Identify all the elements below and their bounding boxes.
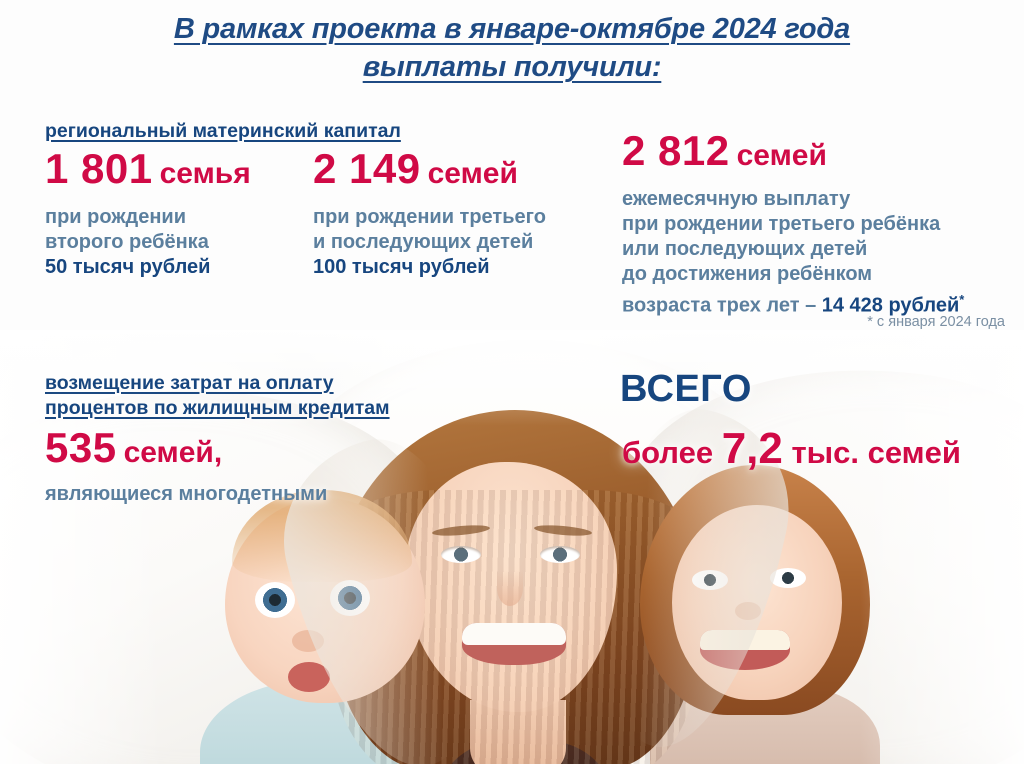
maternity-capital-item-2: 2 149семей при рождении третьего и после… xyxy=(313,146,546,280)
maternity-item-2-amount: 100 тысяч рублей xyxy=(313,255,546,280)
monthly-payment-asterisk: * xyxy=(959,292,964,307)
page-title-line-2: выплаты получили: xyxy=(363,48,662,86)
monthly-payment-number: 2 812 xyxy=(622,127,730,174)
monthly-payment-line-4: до достижения ребёнком xyxy=(622,262,964,287)
housing-credit-block: 535семей, являющиеся многодетными xyxy=(45,425,327,507)
maternity-item-1-figure: 1 801семья xyxy=(45,146,251,197)
monthly-payment-block: 2 812семей ежемесячную выплату при рожде… xyxy=(622,128,964,319)
housing-credit-heading: возмещение затрат на оплату процентов по… xyxy=(45,371,390,421)
monthly-payment-footnote: * с января 2024 года xyxy=(700,313,1005,331)
total-suffix: тыс. семей xyxy=(783,435,961,470)
total-value-line: более 7,2 тыс. семей xyxy=(622,424,961,474)
total-value: 7,2 xyxy=(722,424,783,473)
content-layer: В рамках проекта в январе-октябре 2024 г… xyxy=(0,0,1024,764)
total-prefix: более xyxy=(622,435,722,470)
monthly-payment-unit: семей xyxy=(737,139,827,172)
housing-credit-figure: 535семей, xyxy=(45,425,327,476)
monthly-payment-line-3: или последующих детей xyxy=(622,237,964,262)
page-title-line-1: В рамках проекта в январе-октябре 2024 г… xyxy=(174,10,850,48)
maternity-item-1-unit: семья xyxy=(160,157,251,190)
housing-credit-heading-line-1: возмещение затрат на оплату xyxy=(45,371,334,396)
housing-credit-number: 535 xyxy=(45,424,117,471)
housing-credit-unit: семей, xyxy=(124,436,223,469)
maternity-capital-heading: региональный материнский капитал xyxy=(45,119,401,144)
maternity-item-1-line-1: при рождении xyxy=(45,205,251,230)
infographic-poster: В рамках проекта в январе-октябре 2024 г… xyxy=(0,0,1024,764)
maternity-item-1-line-2: второго ребёнка xyxy=(45,230,251,255)
monthly-payment-line-2: при рождении третьего ребёнка xyxy=(622,212,964,237)
maternity-item-2-figure: 2 149семей xyxy=(313,146,546,197)
maternity-item-2-line-2: и последующих детей xyxy=(313,230,546,255)
page-title: В рамках проекта в январе-октябре 2024 г… xyxy=(0,10,1024,86)
maternity-capital-item-1: 1 801семья при рождении второго ребёнка … xyxy=(45,146,251,280)
maternity-item-2-number: 2 149 xyxy=(313,145,421,192)
maternity-item-2-unit: семей xyxy=(428,157,518,190)
total-label: ВСЕГО xyxy=(620,368,752,410)
housing-credit-description: являющиеся многодетными xyxy=(45,482,327,507)
monthly-payment-line-1: ежемесячную выплату xyxy=(622,187,964,212)
housing-credit-heading-line-2: процентов по жилищным кредитам xyxy=(45,396,390,421)
monthly-payment-figure: 2 812семей xyxy=(622,128,964,179)
maternity-item-2-line-1: при рождении третьего xyxy=(313,205,546,230)
maternity-item-1-number: 1 801 xyxy=(45,145,153,192)
maternity-item-1-amount: 50 тысяч рублей xyxy=(45,255,251,280)
